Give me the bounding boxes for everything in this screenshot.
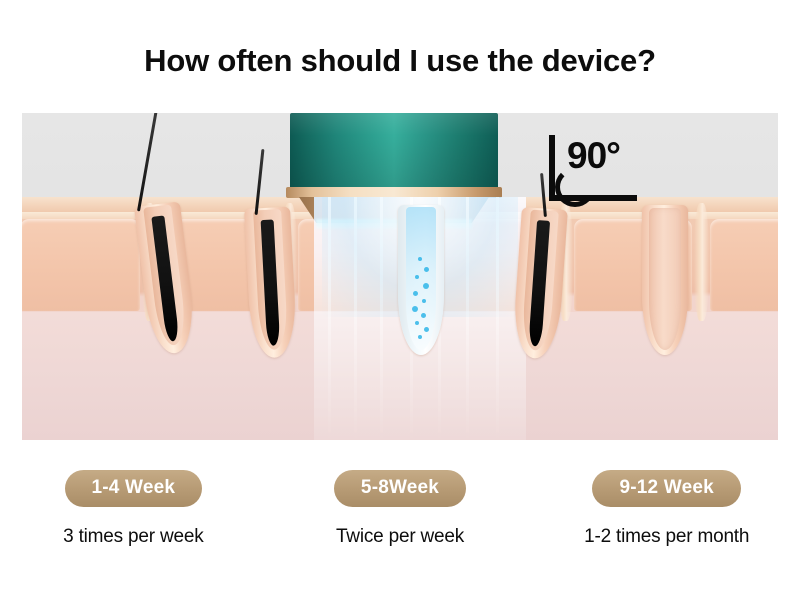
right-angle-icon [549, 135, 555, 201]
epidermis-separator [694, 203, 709, 321]
device-body [290, 113, 498, 189]
usage-schedule: 1-4 Week 3 times per week 5-8Week Twice … [0, 470, 800, 548]
epidermis-cell [22, 219, 140, 311]
particle [418, 335, 422, 339]
schedule-column-2: 5-8Week Twice per week [267, 470, 534, 548]
particle [415, 321, 419, 325]
particle [421, 313, 426, 318]
week-range-badge-1: 1-4 Week [65, 470, 203, 507]
week-range-badge-2: 5-8Week [334, 470, 466, 507]
angle-marker: 90° [527, 135, 657, 213]
schedule-column-3: 9-12 Week 1-2 times per month [533, 470, 800, 548]
schedule-column-1: 1-4 Week 3 times per week [0, 470, 267, 548]
frequency-caption-1: 3 times per week [63, 526, 203, 548]
frequency-caption-3: 1-2 times per month [584, 526, 749, 548]
week-range-badge-3: 9-12 Week [592, 470, 740, 507]
particle [422, 299, 426, 303]
particle [423, 283, 429, 289]
angle-label: 90° [567, 137, 620, 174]
particle [424, 327, 429, 332]
illustration-panel: 90° [22, 113, 778, 440]
follicle-cavity [406, 207, 436, 350]
particle [412, 306, 418, 312]
particle [424, 267, 429, 272]
particle [415, 275, 419, 279]
frequency-caption-2: Twice per week [336, 526, 464, 548]
particle [418, 257, 422, 261]
follicle-cavity [649, 208, 681, 350]
epidermis-cell [710, 219, 778, 311]
particle [413, 291, 418, 296]
page-title: How often should I use the device? [0, 44, 800, 78]
